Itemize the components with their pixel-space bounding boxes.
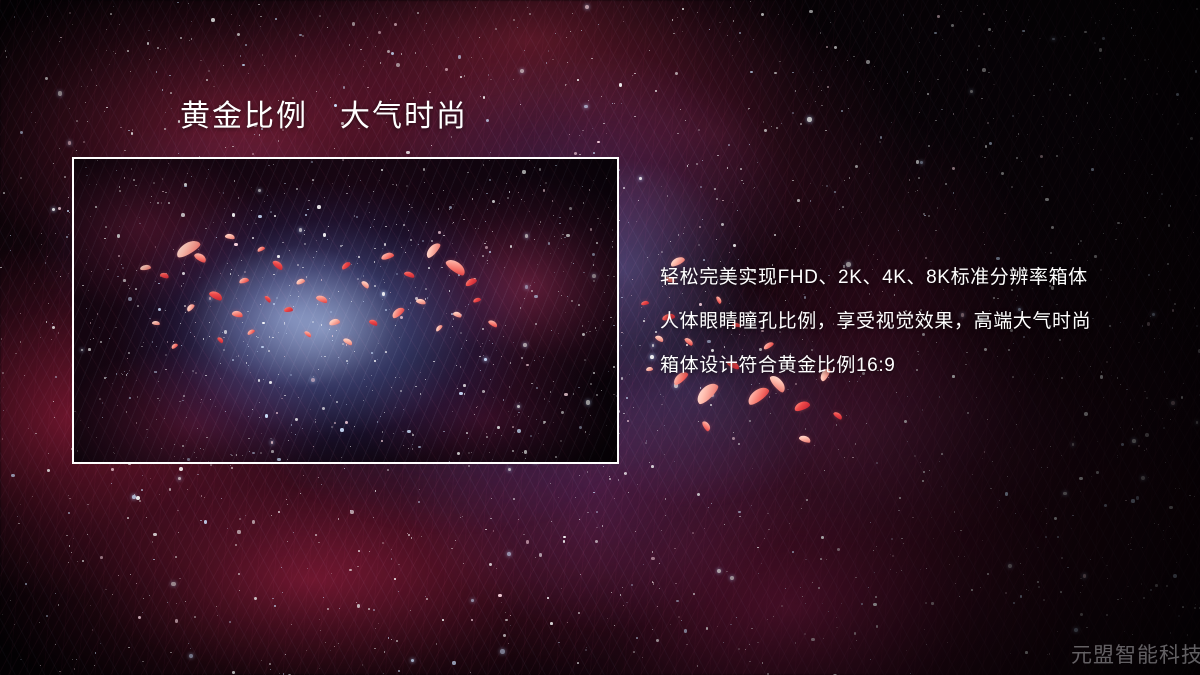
star xyxy=(1073,121,1074,122)
star xyxy=(636,637,638,639)
star xyxy=(807,103,808,104)
star xyxy=(105,589,107,591)
star xyxy=(684,629,688,633)
star xyxy=(1151,164,1152,165)
star xyxy=(739,516,740,517)
star xyxy=(1169,506,1173,510)
star xyxy=(682,31,683,32)
star xyxy=(652,629,653,630)
star xyxy=(653,583,655,585)
star xyxy=(1132,439,1136,443)
star xyxy=(20,659,21,660)
star xyxy=(917,190,918,191)
star xyxy=(716,239,717,240)
star xyxy=(1135,35,1136,36)
star xyxy=(87,534,88,535)
star xyxy=(649,50,650,51)
star xyxy=(373,609,375,611)
star xyxy=(69,498,71,500)
star xyxy=(1023,574,1024,575)
star xyxy=(104,111,105,112)
star xyxy=(704,528,705,529)
star xyxy=(901,538,902,539)
star xyxy=(569,134,570,135)
star xyxy=(792,180,793,181)
star xyxy=(1174,303,1176,305)
star xyxy=(561,588,562,589)
star xyxy=(1072,137,1074,139)
star xyxy=(1148,477,1149,478)
star xyxy=(523,534,524,535)
star xyxy=(622,587,623,588)
star xyxy=(1051,226,1054,229)
star xyxy=(1183,383,1184,384)
star xyxy=(1117,14,1118,15)
star xyxy=(809,10,812,13)
star xyxy=(563,540,566,543)
star xyxy=(520,104,521,105)
star xyxy=(302,35,303,36)
star xyxy=(1192,61,1193,62)
star xyxy=(952,167,955,170)
star xyxy=(1075,77,1076,78)
star xyxy=(596,527,598,529)
star xyxy=(887,83,888,84)
star xyxy=(841,603,843,605)
star xyxy=(1176,562,1177,563)
star xyxy=(702,219,704,221)
star xyxy=(176,603,177,604)
star xyxy=(188,643,189,644)
star xyxy=(898,510,899,511)
star xyxy=(1117,455,1118,456)
star xyxy=(377,13,378,14)
star xyxy=(912,517,914,519)
star xyxy=(873,603,877,607)
star xyxy=(1091,476,1092,477)
star xyxy=(891,122,892,123)
star xyxy=(1106,614,1108,616)
star xyxy=(955,209,956,210)
star xyxy=(675,72,679,76)
star xyxy=(1194,607,1196,609)
star xyxy=(406,151,410,155)
star xyxy=(159,494,160,495)
star xyxy=(738,443,740,445)
star xyxy=(58,207,62,211)
star xyxy=(323,597,324,598)
star xyxy=(810,183,811,184)
star xyxy=(1136,102,1137,103)
star xyxy=(217,615,218,616)
star xyxy=(188,3,189,4)
star xyxy=(391,52,394,55)
star xyxy=(796,407,797,408)
star xyxy=(1104,504,1107,507)
star xyxy=(749,644,750,645)
star xyxy=(2,438,3,439)
star xyxy=(621,377,623,379)
star xyxy=(815,101,816,102)
star xyxy=(17,516,18,517)
star xyxy=(157,47,159,49)
star xyxy=(1024,30,1026,32)
star xyxy=(775,393,776,394)
star xyxy=(106,50,107,51)
star xyxy=(1154,411,1155,412)
star xyxy=(1080,240,1082,242)
star xyxy=(113,6,114,7)
star xyxy=(64,176,66,178)
star xyxy=(941,109,943,111)
star xyxy=(880,136,883,139)
star xyxy=(321,484,322,485)
star xyxy=(350,510,351,511)
star xyxy=(132,495,136,499)
petal xyxy=(832,410,843,420)
star xyxy=(933,538,934,539)
star xyxy=(391,549,392,550)
star xyxy=(1094,42,1096,44)
star xyxy=(408,534,409,535)
star xyxy=(870,659,871,660)
star xyxy=(828,611,829,612)
star xyxy=(915,92,916,93)
star xyxy=(1169,526,1170,527)
star xyxy=(470,672,471,673)
star xyxy=(1163,530,1164,531)
star xyxy=(547,597,549,599)
star xyxy=(128,647,130,649)
star xyxy=(356,602,357,603)
star xyxy=(508,468,511,471)
star xyxy=(999,500,1000,501)
star xyxy=(141,489,143,491)
star xyxy=(670,241,671,242)
star xyxy=(1147,192,1149,194)
star xyxy=(1063,492,1067,496)
star xyxy=(47,256,48,257)
star xyxy=(1194,307,1196,309)
star xyxy=(185,601,186,602)
star xyxy=(1041,467,1042,468)
star xyxy=(68,495,69,496)
star xyxy=(490,79,492,81)
star xyxy=(992,461,993,462)
star xyxy=(579,519,580,520)
star xyxy=(848,108,849,109)
star xyxy=(281,567,282,568)
star xyxy=(252,520,256,524)
star xyxy=(20,341,22,343)
star xyxy=(496,568,497,569)
star xyxy=(493,530,495,532)
star xyxy=(357,604,360,607)
star xyxy=(1053,83,1054,84)
star xyxy=(603,123,605,125)
star xyxy=(1103,397,1104,398)
star xyxy=(674,548,676,550)
star xyxy=(200,520,201,521)
star xyxy=(661,404,663,406)
star xyxy=(768,529,769,530)
star xyxy=(45,77,48,80)
star xyxy=(565,84,566,85)
star xyxy=(462,516,463,517)
star xyxy=(757,162,758,163)
star xyxy=(1156,93,1158,95)
star xyxy=(165,48,167,50)
star xyxy=(655,331,657,333)
star xyxy=(924,629,925,630)
star xyxy=(59,148,60,149)
star xyxy=(1010,653,1011,654)
star xyxy=(411,659,414,662)
star xyxy=(111,483,112,484)
star xyxy=(868,245,869,246)
star xyxy=(602,525,604,527)
star xyxy=(375,490,376,491)
star xyxy=(908,192,910,194)
star xyxy=(1020,595,1022,597)
star xyxy=(801,508,802,509)
star xyxy=(1121,443,1125,447)
star xyxy=(806,89,807,90)
star xyxy=(1041,186,1042,187)
star xyxy=(548,50,550,52)
star xyxy=(821,105,823,107)
star xyxy=(1099,129,1100,130)
star xyxy=(821,70,822,71)
star xyxy=(1170,419,1171,420)
star xyxy=(997,507,998,508)
star xyxy=(748,109,749,110)
star xyxy=(426,66,427,67)
star xyxy=(869,173,870,174)
star xyxy=(480,96,481,97)
star xyxy=(1151,174,1153,176)
star xyxy=(935,120,937,122)
star xyxy=(1187,554,1188,555)
star xyxy=(60,37,61,38)
star xyxy=(812,582,813,583)
star xyxy=(749,661,750,662)
star xyxy=(680,109,682,111)
star xyxy=(826,46,828,48)
star xyxy=(1100,82,1101,83)
star xyxy=(239,590,241,592)
star xyxy=(112,594,113,595)
star xyxy=(1021,161,1022,162)
star xyxy=(896,392,897,393)
star xyxy=(307,568,308,569)
star xyxy=(1096,471,1099,474)
star xyxy=(750,1,751,2)
star xyxy=(39,622,41,624)
star xyxy=(1150,409,1151,410)
star xyxy=(1145,433,1149,437)
star xyxy=(619,83,622,86)
star xyxy=(1082,406,1083,407)
star xyxy=(1141,425,1142,426)
star xyxy=(822,603,823,604)
star xyxy=(318,477,319,478)
star xyxy=(633,407,634,408)
star xyxy=(1107,578,1108,579)
star xyxy=(1016,424,1017,425)
star xyxy=(830,22,831,23)
star xyxy=(751,505,752,506)
star xyxy=(1047,467,1048,468)
star xyxy=(789,523,790,524)
star xyxy=(1182,606,1184,608)
star xyxy=(59,671,61,673)
star xyxy=(1154,523,1155,524)
star xyxy=(983,13,985,15)
star xyxy=(15,353,16,354)
star xyxy=(795,248,797,250)
star xyxy=(179,578,180,579)
star xyxy=(609,478,611,480)
star xyxy=(113,51,114,52)
star xyxy=(1132,428,1134,430)
star xyxy=(551,521,552,522)
star xyxy=(612,103,613,104)
star xyxy=(131,132,134,135)
star xyxy=(451,136,453,138)
star xyxy=(383,673,384,674)
star xyxy=(981,98,982,99)
star xyxy=(136,583,137,584)
star xyxy=(896,572,897,573)
star xyxy=(53,401,54,402)
star xyxy=(811,638,814,641)
star xyxy=(1025,651,1028,654)
star xyxy=(231,467,233,469)
star xyxy=(146,517,147,518)
star xyxy=(32,31,33,32)
star xyxy=(319,15,321,17)
star xyxy=(623,333,624,334)
star xyxy=(1143,597,1145,599)
star xyxy=(581,30,582,31)
star xyxy=(677,17,678,18)
star xyxy=(876,625,878,627)
star xyxy=(732,55,733,56)
petal xyxy=(799,434,812,444)
star xyxy=(1141,139,1142,140)
star xyxy=(1165,462,1166,463)
star xyxy=(1141,476,1145,480)
star xyxy=(489,563,492,566)
star xyxy=(645,442,647,444)
star xyxy=(338,643,339,644)
star xyxy=(384,651,386,653)
star xyxy=(621,103,622,104)
star xyxy=(609,476,610,477)
star xyxy=(1026,589,1027,590)
star xyxy=(675,583,677,585)
star xyxy=(20,131,23,134)
star xyxy=(360,49,362,51)
star xyxy=(180,37,182,39)
star xyxy=(96,85,97,86)
star xyxy=(191,38,193,40)
star xyxy=(567,622,568,623)
star xyxy=(708,507,709,508)
star xyxy=(879,141,881,143)
star xyxy=(1146,448,1147,449)
star xyxy=(721,223,724,226)
star xyxy=(631,295,633,297)
star xyxy=(374,648,376,650)
star xyxy=(291,624,292,625)
star xyxy=(1018,113,1019,114)
star xyxy=(849,177,851,179)
star xyxy=(619,220,620,221)
star xyxy=(1093,149,1094,150)
star xyxy=(907,71,908,72)
star xyxy=(907,441,908,442)
body-text-block: 轻松完美实现FHD、2K、4K、8K标准分辨率箱体 人体眼睛瞳孔比例，享受视觉效… xyxy=(660,256,1160,388)
star xyxy=(821,536,824,539)
star xyxy=(1089,173,1090,174)
star xyxy=(72,24,73,25)
star xyxy=(508,643,509,644)
star xyxy=(826,559,828,561)
star xyxy=(767,513,768,514)
star xyxy=(716,198,718,200)
star xyxy=(579,154,580,155)
star xyxy=(923,213,924,214)
star xyxy=(204,497,205,498)
star xyxy=(513,498,515,500)
star xyxy=(664,425,665,426)
star xyxy=(854,632,857,635)
star xyxy=(661,251,663,253)
star xyxy=(1005,592,1007,594)
star xyxy=(1012,115,1014,117)
star xyxy=(91,69,92,70)
star xyxy=(505,612,506,613)
star xyxy=(982,458,983,459)
star xyxy=(32,496,33,497)
star xyxy=(623,6,624,7)
star xyxy=(861,603,863,605)
star xyxy=(40,665,41,666)
star xyxy=(607,618,608,619)
star xyxy=(319,668,321,670)
star xyxy=(869,81,870,82)
star xyxy=(1079,477,1083,481)
star xyxy=(10,600,12,602)
star xyxy=(127,517,129,519)
star xyxy=(1167,263,1168,264)
star xyxy=(952,61,953,62)
star xyxy=(316,91,317,92)
star xyxy=(1111,24,1112,25)
star xyxy=(1150,589,1152,591)
star xyxy=(1106,565,1107,566)
star xyxy=(856,640,857,641)
star xyxy=(76,150,77,151)
star xyxy=(81,86,82,87)
star xyxy=(230,465,231,466)
star xyxy=(1178,615,1180,617)
star xyxy=(1072,443,1075,446)
star xyxy=(945,183,947,185)
star xyxy=(358,550,360,552)
